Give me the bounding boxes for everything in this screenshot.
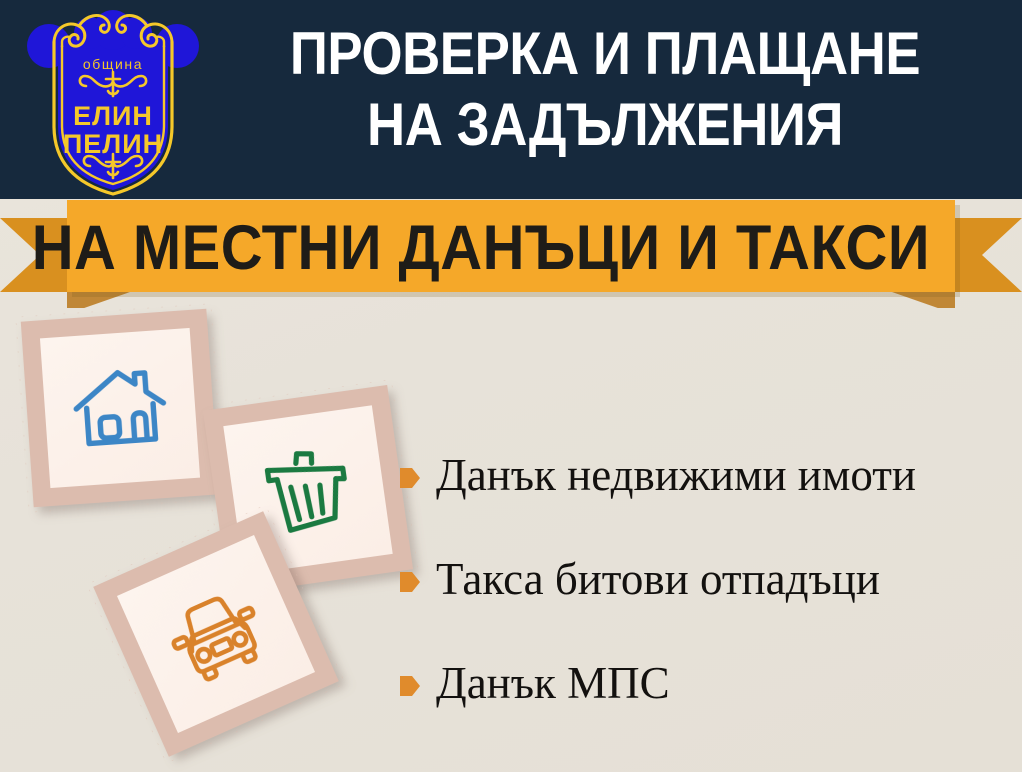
stamp-real-estate	[15, 303, 224, 512]
page-title-line-1: ПРОВЕРКА И ПЛАЩАНЕ	[244, 18, 966, 89]
poster-root: община ЕЛИН ПЕЛИН	[0, 0, 1022, 772]
arrow-bullet-icon	[400, 675, 420, 697]
ribbon-label: НА МЕСТНИ ДАНЪЦИ И ТАКСИ	[72, 200, 889, 296]
list-item[interactable]: Данък МПС	[400, 632, 1010, 736]
stamp-paper	[40, 328, 200, 488]
page-title-line-2: НА ЗАДЪЛЖЕНИЯ	[244, 89, 966, 160]
obligation-types-list: Данък недвижими имоти Такса битови отпад…	[400, 424, 1010, 736]
header-bar: община ЕЛИН ПЕЛИН	[0, 0, 1022, 199]
car-icon	[147, 565, 284, 702]
house-icon	[64, 352, 175, 463]
stamp-collage	[0, 296, 420, 772]
list-item-label: Такса битови отпадъци	[436, 556, 880, 603]
list-item[interactable]: Данък недвижими имоти	[400, 424, 1010, 528]
ribbon-label-text: НА МЕСТНИ ДАНЪЦИ И ТАКСИ	[32, 212, 930, 284]
arrow-bullet-icon	[400, 571, 420, 593]
page-title: ПРОВЕРКА И ПЛАЩАНЕ НА ЗАДЪЛЖЕНИЯ	[244, 18, 966, 160]
list-item[interactable]: Такса битови отпадъци	[400, 528, 1010, 632]
list-item-label: Данък МПС	[436, 660, 670, 707]
arrow-bullet-icon	[400, 467, 420, 489]
coat-of-arms-logo: община ЕЛИН ПЕЛИН	[24, 6, 202, 196]
crest-label-small: община	[83, 56, 143, 72]
crest-label-line1: ЕЛИН	[73, 101, 153, 131]
list-item-label: Данък недвижими имоти	[436, 452, 916, 499]
